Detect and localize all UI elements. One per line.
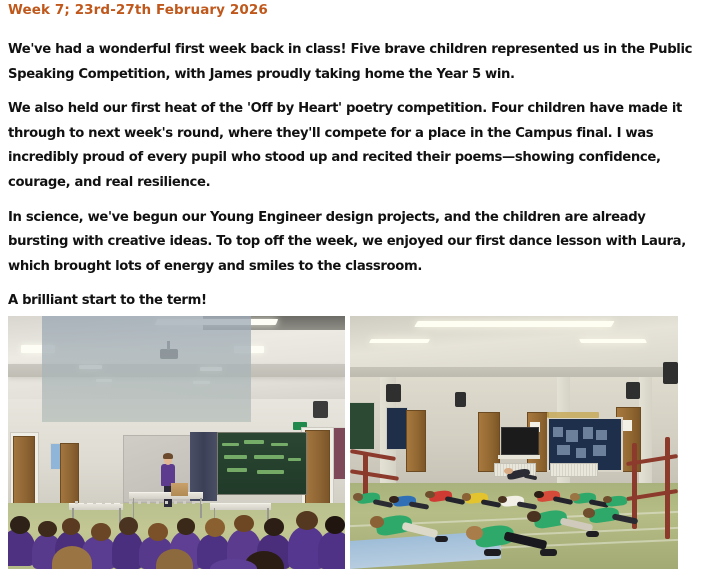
pupil-head — [353, 493, 363, 501]
pupil-head — [177, 518, 196, 534]
pupil-shoe — [586, 531, 599, 537]
pupil-head — [234, 515, 254, 533]
paragraph-4: A brilliant start to the term! — [8, 289, 700, 314]
wall-speaker-icon — [455, 392, 466, 407]
dance-lesson-photo — [350, 316, 678, 569]
pupil-shoe — [540, 549, 556, 556]
pupil-head — [534, 491, 544, 499]
assembly-hall-scene — [8, 316, 345, 569]
paragraph-3: In science, we've begun our Young Engine… — [8, 206, 700, 280]
hall-floor-mat — [42, 316, 251, 422]
wall-bars — [665, 437, 670, 538]
noticeboard-item — [583, 427, 593, 438]
chalk-writing — [222, 443, 239, 447]
pupil-head — [296, 511, 318, 530]
hall-door — [305, 430, 331, 505]
stacked-table — [210, 503, 271, 510]
presentation-table — [129, 492, 203, 500]
seated-pupil — [318, 531, 345, 569]
ceiling-light — [414, 321, 614, 327]
noticeboard-item — [566, 430, 577, 443]
ceiling-light — [579, 339, 647, 343]
hall-door — [13, 436, 35, 504]
wall-bars — [632, 443, 637, 529]
pupil-shoe — [484, 549, 500, 556]
newsletter-page: Week 7; 23rd-27th February 2026 We've ha… — [0, 0, 708, 576]
wall-speaker-icon — [663, 362, 678, 385]
wall-speaker-icon — [313, 401, 328, 419]
wall-display-board — [386, 407, 408, 449]
noticeboard-item — [596, 430, 607, 440]
public-speaking-assembly-photo — [8, 316, 345, 569]
newsletter-body: We've had a wonderful first week back in… — [8, 38, 700, 314]
paragraph-2: We also held our first heat of the 'Off … — [8, 97, 700, 195]
hall-door — [60, 443, 79, 506]
chalk-writing — [224, 455, 248, 459]
noticeboard-title — [547, 412, 599, 418]
pupil-head — [603, 496, 612, 503]
wall-radiator — [550, 463, 598, 478]
page-title: Week 7; 23rd-27th February 2026 — [8, 2, 268, 18]
chalk-writing — [244, 440, 264, 444]
wall-television — [501, 427, 539, 454]
pupil-head — [119, 517, 138, 535]
tv-shelf — [498, 455, 541, 459]
dance-hall-scene — [350, 316, 678, 569]
pupil-head — [10, 516, 30, 534]
seated-pupil — [8, 529, 35, 567]
pupil-head — [466, 526, 482, 540]
chalk-writing — [227, 468, 247, 472]
pupil-head — [527, 511, 541, 522]
chalk-writing — [271, 443, 288, 447]
noticeboard-item — [553, 427, 563, 437]
pupil-shoe — [435, 536, 448, 542]
chalk-writing — [288, 458, 301, 462]
stacked-stools — [75, 501, 203, 505]
noticeboard-item — [576, 448, 586, 458]
seated-pupil — [112, 531, 142, 569]
noticeboard-item — [593, 445, 606, 456]
noticeboard-item — [557, 445, 570, 455]
presenter-hair — [163, 453, 173, 459]
wall-display-board — [350, 402, 375, 450]
door-notice — [622, 420, 632, 431]
wall-speaker-icon — [386, 384, 401, 402]
ceiling-light — [369, 339, 430, 343]
pupil-head — [325, 516, 345, 534]
stage-curtain — [190, 432, 217, 500]
cardboard-box — [171, 483, 188, 496]
dance-instructor-head — [504, 468, 513, 475]
photo-row — [8, 316, 678, 569]
pupil-head — [62, 518, 81, 534]
paragraph-1: We've had a wonderful first week back in… — [8, 38, 700, 87]
hall-door — [406, 410, 426, 473]
wall-bars — [363, 453, 368, 499]
pupil-head — [570, 493, 580, 501]
chalk-writing — [254, 455, 284, 459]
chalk-writing — [257, 470, 284, 474]
pupil-head — [38, 521, 57, 537]
pupil-head — [462, 493, 472, 501]
pupil-head — [91, 523, 111, 541]
wall-speaker-icon — [626, 382, 641, 400]
